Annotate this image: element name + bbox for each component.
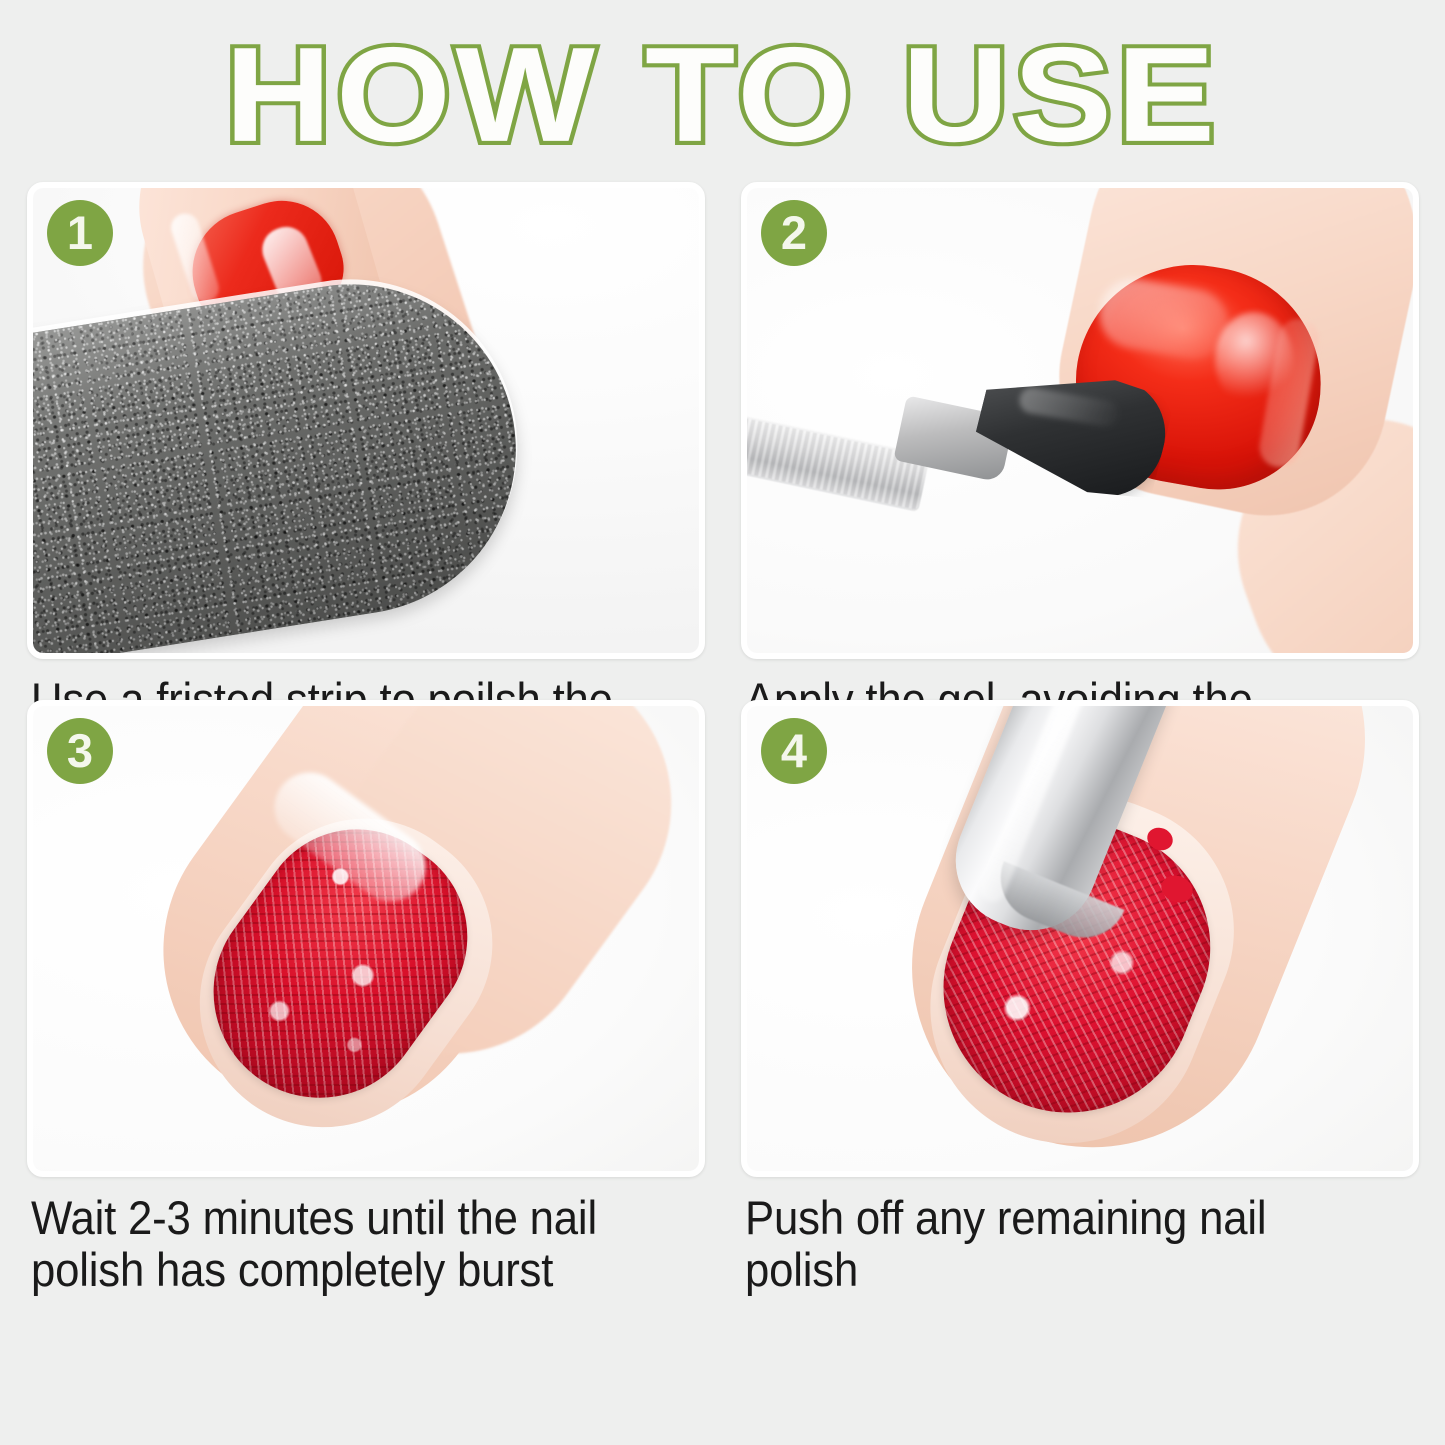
step-caption-3: Wait 2-3 minutes until the nail polish h… — [31, 1192, 673, 1296]
step-photo-1: 1 — [27, 182, 705, 659]
step-card-4: 4 Push off any remaining nail polish — [741, 700, 1419, 1208]
step-caption-4: Push off any remaining nail polish — [745, 1192, 1387, 1296]
step-badge-2: 2 — [761, 200, 827, 266]
step-photo-4: 4 — [741, 700, 1419, 1177]
scene-push-off — [747, 706, 1413, 1171]
page-title: HOW TO USE — [225, 27, 1220, 162]
step-photo-2: 2 — [741, 182, 1419, 659]
scene-frosted-strip — [33, 188, 699, 653]
scene-gel-brush — [747, 188, 1413, 653]
how-to-use-poster: HOW TO USE 1 Use a fristed strip to — [0, 0, 1445, 1445]
step-badge-4: 4 — [761, 718, 827, 784]
poster-title-wrap: HOW TO USE — [0, 32, 1445, 157]
step-card-2: 2 Apply the gel, avoiding the surroundin… — [741, 182, 1419, 690]
step-badge-3: 3 — [47, 718, 113, 784]
scene-burst-polish — [33, 706, 699, 1171]
step-badge-1: 1 — [47, 200, 113, 266]
steps-grid: 1 Use a fristed strip to poilsh the nail… — [27, 182, 1419, 1427]
step-photo-3: 3 — [27, 700, 705, 1177]
step-card-3: 3 Wait 2-3 minutes until the nail polish… — [27, 700, 705, 1208]
step-card-1: 1 Use a fristed strip to poilsh the nail… — [27, 182, 705, 690]
